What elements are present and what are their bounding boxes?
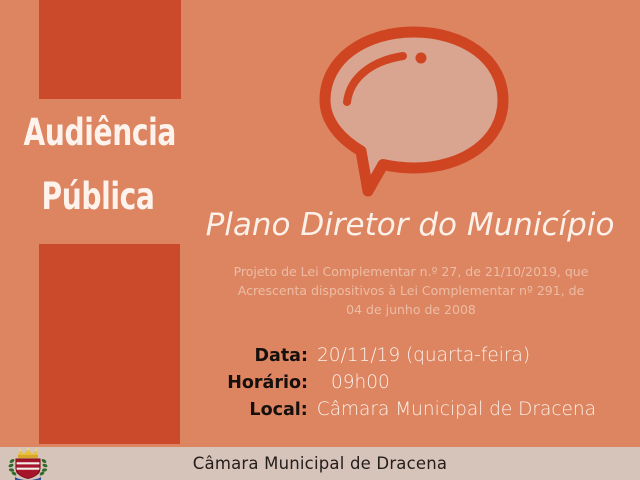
footer-bar: Câmara Municipal de Dracena — [0, 447, 640, 480]
detail-label-data: Data: — [196, 346, 317, 366]
audiencia-publica-poster: Audiência Pública Plano Diretor do Munic… — [0, 0, 640, 480]
detail-label-horario: Horário: — [196, 373, 317, 393]
legal-reference: Projeto de Lei Complementar n.º 27, de 2… — [196, 262, 626, 319]
detail-row: Local: Câmara Municipal de Dracena — [196, 399, 596, 426]
speech-bubble-icon — [300, 18, 530, 203]
detail-label-local: Local: — [196, 400, 317, 420]
legal-line-2: Acrescenta dispositivos à Lei Complement… — [196, 281, 626, 300]
detail-value-data: 20/11/19 (quarta-feira) — [317, 345, 530, 366]
main-title: Plano Diretor do Município — [190, 207, 630, 243]
legal-line-1: Projeto de Lei Complementar n.º 27, de 2… — [196, 262, 626, 281]
page-title-line-2: Pública — [24, 172, 173, 222]
detail-value-local: Câmara Municipal de Dracena — [317, 399, 596, 420]
page-title: Audiência Pública — [24, 108, 173, 222]
footer-title: Câmara Municipal de Dracena — [0, 447, 640, 480]
detail-value-horario: 09h00 — [317, 372, 390, 393]
page-title-line-1: Audiência — [24, 108, 173, 158]
event-details: Data: 20/11/19 (quarta-feira) Horário: 0… — [196, 345, 596, 426]
detail-row: Data: 20/11/19 (quarta-feira) — [196, 345, 596, 372]
decorative-block-top — [39, 0, 181, 99]
decorative-block-bottom — [39, 244, 180, 444]
legal-line-3: 04 de junho de 2008 — [196, 300, 626, 319]
detail-row: Horário: 09h00 — [196, 372, 596, 399]
